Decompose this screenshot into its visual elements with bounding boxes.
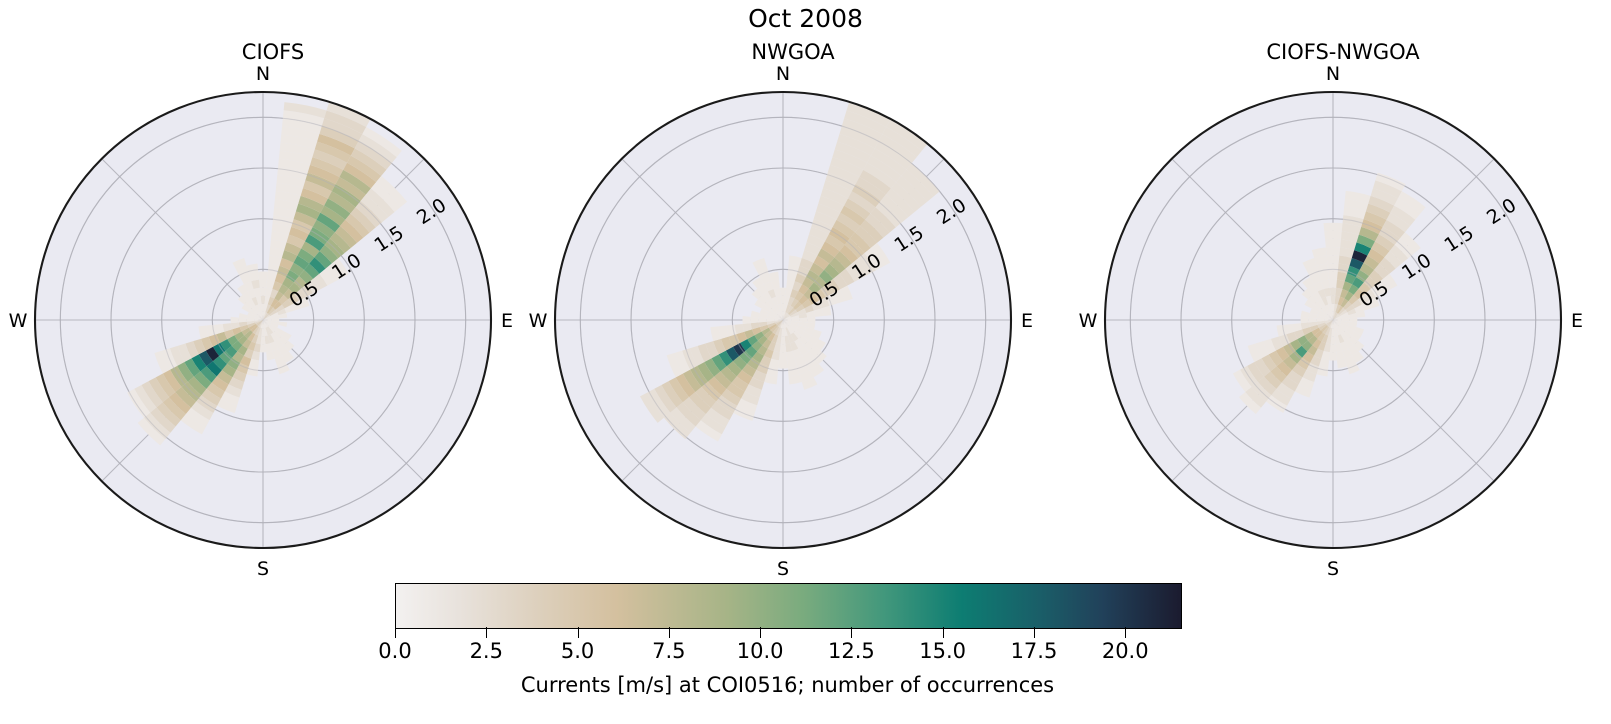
polar-panel-ciofs: CIOFS NESW0.51.01.52.0 [13,78,533,578]
windrose-bar-segment [261,336,266,344]
windrose-bar-segment [1329,279,1337,287]
colorbar-title: Currents [m/s] at COI0516; number of occ… [395,673,1180,697]
windrose-bar-segment [799,318,807,323]
windrose-bar-segment [1331,296,1336,304]
colorbar-tick [486,627,487,638]
colorbar-tick [395,627,396,638]
polar-panel-ciofs-nwgoa: CIOFS-NWGOA NESW0.51.01.52.0 [1083,78,1603,578]
windrose-bar-segment [1330,344,1336,352]
compass-label-north: N [1326,63,1340,85]
figure-canvas: Oct 2008 CIOFS NESW0.51.01.52.0 NWGOA NE… [0,0,1611,724]
compass-label-east: E [501,310,513,332]
windrose-bar-segment [751,317,759,323]
colorbar-tick [1125,627,1126,638]
compass-label-north: N [776,63,790,85]
colorbar-tick [578,627,579,638]
windrose-bar-segment [1309,318,1317,323]
polar-plot-ciofs: NESW0.51.01.52.0 [13,78,533,578]
windrose-bar-segment [780,344,786,352]
windrose-bar-segment [780,288,786,296]
windrose-bar-segment [742,316,750,324]
polar-panel-nwgoa: NWGOA NESW0.51.01.52.0 [533,78,1053,578]
windrose-bar-segment [231,317,239,323]
compass-label-north: N [256,63,270,85]
windrose-bar-segment [260,344,266,352]
windrose-bar-segment [1349,318,1357,323]
colorbar-tick-label: 17.5 [1011,639,1058,663]
compass-label-south: S [257,558,269,580]
windrose-bar-segment [260,288,266,296]
colorbar-tick-label: 20.0 [1102,639,1149,663]
colorbar: Currents [m/s] at COI0516; number of occ… [395,583,1180,627]
colorbar-tick-label: 12.5 [828,639,875,663]
colorbar-tick [943,627,944,638]
windrose-bar-segment [1327,255,1340,263]
windrose-bar-segment [258,271,268,279]
compass-label-east: E [1571,310,1583,332]
colorbar-tick [1034,627,1035,638]
panel-title-nwgoa: NWGOA [533,40,1053,64]
windrose-bar-segment [259,279,267,287]
polar-plot-ciofs-nwgoa: NESW0.51.01.52.0 [1083,78,1603,578]
colorbar-tick-label: 0.0 [378,639,411,663]
colorbar-tick-label: 2.5 [470,639,503,663]
windrose-bar-segment [1329,352,1337,360]
figure-suptitle: Oct 2008 [0,4,1611,34]
colorbar-tick-label: 5.0 [561,639,594,663]
colorbar-tick [760,627,761,638]
panel-title-ciofs: CIOFS [13,40,533,64]
windrose-bar-segment [1323,223,1342,232]
compass-label-east: E [1021,310,1033,332]
colorbar-gradient [395,583,1182,629]
windrose-bar-segment [1330,288,1336,296]
polar-plot-nwgoa: NESW0.51.01.52.0 [533,78,1053,578]
windrose-bar-segment [759,318,767,323]
windrose-bar-segment [781,296,786,304]
windrose-bar-segment [781,336,786,344]
windrose-bar-segment [1326,247,1340,255]
colorbar-tick-label: 15.0 [919,639,966,663]
colorbar-tick [851,627,852,638]
windrose-bar-segment [1325,239,1341,247]
panel-title-ciofs-nwgoa: CIOFS-NWGOA [1083,40,1603,64]
compass-label-south: S [777,558,789,580]
windrose-bar-segment [778,360,788,368]
windrose-bar-segment [239,318,247,323]
windrose-bar-segment [807,317,815,323]
compass-label-south: S [1327,558,1339,580]
compass-label-west: W [9,310,28,332]
windrose-bar-segment [1331,336,1336,344]
colorbar-tick [669,627,670,638]
windrose-bar-segment [1301,317,1309,323]
windrose-bar-segment [261,296,266,304]
compass-label-west: W [529,310,548,332]
windrose-bar-segment [779,352,787,360]
compass-label-west: W [1079,310,1098,332]
colorbar-tick-label: 7.5 [652,639,685,663]
windrose-bar-segment [1327,263,1338,271]
colorbar-tick-label: 10.0 [737,639,784,663]
windrose-bar-segment [1328,271,1338,279]
windrose-bar-segment [1324,231,1341,239]
